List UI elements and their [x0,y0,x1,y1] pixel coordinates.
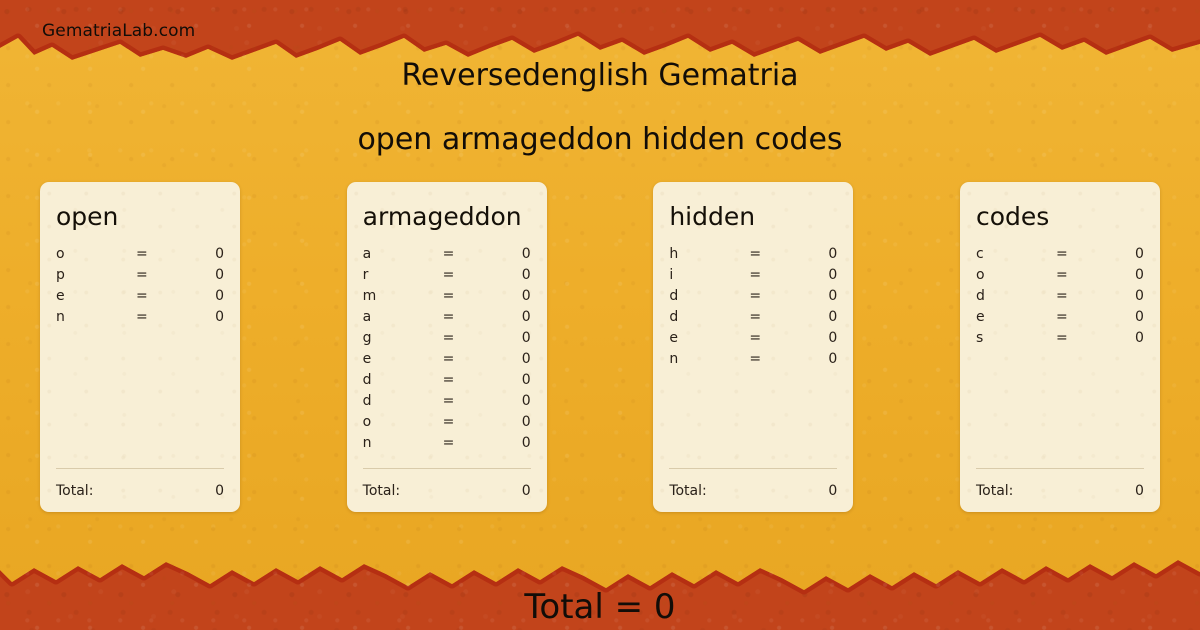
letter-value-rows: o = 0 p = 0 e = 0 n = 0 [56,246,224,330]
card-total: Total: 0 [56,468,224,499]
letter-value: 0 [495,414,531,430]
equals-sign: = [443,246,495,262]
letter: o [976,267,1056,283]
letter-row: d = 0 [669,288,837,309]
word-card-hidden: hidden h = 0 i = 0 d = 0 d [653,182,853,512]
word-card-title: hidden [669,204,837,229]
equals-sign: = [136,309,188,325]
letter-value: 0 [495,330,531,346]
letter: h [669,246,749,262]
card-divider [669,468,837,469]
word-card-list: open o = 0 p = 0 e = 0 n [40,182,1160,512]
equals-sign: = [1056,309,1108,325]
card-divider [363,468,531,469]
letter-value: 0 [1108,309,1144,325]
letter-value: 0 [495,351,531,367]
letter: d [669,309,749,325]
card-total-value: 0 [1135,483,1144,499]
letter: d [363,393,443,409]
letter-row: e = 0 [363,351,531,372]
word-card-title: codes [976,204,1144,229]
letter-value: 0 [801,309,837,325]
letter: n [363,435,443,451]
letter: e [363,351,443,367]
card-divider [56,468,224,469]
card-total: Total: 0 [976,468,1144,499]
letter-row: d = 0 [669,309,837,330]
site-logo[interactable]: GematriaLab.com [42,21,195,41]
letter: o [363,414,443,430]
letter-row: n = 0 [669,351,837,372]
letter-row: o = 0 [976,267,1144,288]
equals-sign: = [1056,288,1108,304]
letter-row: d = 0 [976,288,1144,309]
gematria-result-card: GematriaLab.com Reversedenglish Gematria… [0,0,1200,630]
letter-value: 0 [1108,246,1144,262]
letter: e [56,288,136,304]
equals-sign: = [443,414,495,430]
letter: c [976,246,1056,262]
letter-value: 0 [188,267,224,283]
equals-sign: = [443,372,495,388]
letter-row: d = 0 [363,372,531,393]
equals-sign: = [136,267,188,283]
equals-sign: = [749,351,801,367]
letter-value: 0 [495,393,531,409]
card-total-value: 0 [828,483,837,499]
letter-value: 0 [801,246,837,262]
letter-row: g = 0 [363,330,531,351]
letter-value: 0 [1108,330,1144,346]
word-card-open: open o = 0 p = 0 e = 0 n [40,182,240,512]
letter-value: 0 [1108,267,1144,283]
card-total-label: Total: [56,483,93,499]
letter-value: 0 [801,351,837,367]
letter-value: 0 [495,267,531,283]
equals-sign: = [749,246,801,262]
letter: g [363,330,443,346]
equals-sign: = [749,330,801,346]
word-card-codes: codes c = 0 o = 0 d = 0 e [960,182,1160,512]
letter-row: n = 0 [363,435,531,456]
page-subtitle: open armageddon hidden codes [0,122,1200,157]
letter-row: p = 0 [56,267,224,288]
letter-row: a = 0 [363,246,531,267]
letter-row: h = 0 [669,246,837,267]
letter-row: d = 0 [363,393,531,414]
letter-value: 0 [495,309,531,325]
letter: n [669,351,749,367]
letter-value: 0 [495,246,531,262]
equals-sign: = [136,246,188,262]
letter: d [363,372,443,388]
card-total-value: 0 [522,483,531,499]
letter: p [56,267,136,283]
letter-value-rows: c = 0 o = 0 d = 0 e = 0 [976,246,1144,351]
equals-sign: = [443,288,495,304]
letter-value: 0 [188,309,224,325]
letter-value: 0 [801,267,837,283]
letter: s [976,330,1056,346]
card-total: Total: 0 [363,468,531,499]
letter-row: e = 0 [56,288,224,309]
grand-total: Total = 0 [0,587,1200,627]
letter: d [976,288,1056,304]
card-total-label: Total: [363,483,400,499]
equals-sign: = [443,267,495,283]
letter-row: o = 0 [56,246,224,267]
letter-row: m = 0 [363,288,531,309]
letter-row: s = 0 [976,330,1144,351]
equals-sign: = [136,288,188,304]
equals-sign: = [443,309,495,325]
card-total: Total: 0 [669,468,837,499]
letter-row: r = 0 [363,267,531,288]
letter: d [669,288,749,304]
letter: m [363,288,443,304]
letter-value: 0 [495,288,531,304]
word-card-title: armageddon [363,204,531,229]
letter-row: c = 0 [976,246,1144,267]
letter-value: 0 [188,246,224,262]
letter: e [976,309,1056,325]
equals-sign: = [443,351,495,367]
letter-row: e = 0 [669,330,837,351]
equals-sign: = [443,393,495,409]
equals-sign: = [749,309,801,325]
letter-value: 0 [1108,288,1144,304]
equals-sign: = [749,267,801,283]
card-total-label: Total: [669,483,706,499]
card-total-label: Total: [976,483,1013,499]
letter-value: 0 [188,288,224,304]
equals-sign: = [749,288,801,304]
equals-sign: = [443,435,495,451]
letter: a [363,246,443,262]
equals-sign: = [1056,330,1108,346]
letter: n [56,309,136,325]
letter-value: 0 [801,330,837,346]
word-card-armageddon: armageddon a = 0 r = 0 m = 0 a [347,182,547,512]
letter-row: a = 0 [363,309,531,330]
letter: e [669,330,749,346]
letter-value: 0 [495,435,531,451]
letter: i [669,267,749,283]
card-divider [976,468,1144,469]
equals-sign: = [1056,246,1108,262]
card-total-value: 0 [215,483,224,499]
letter: o [56,246,136,262]
letter-row: i = 0 [669,267,837,288]
letter-row: n = 0 [56,309,224,330]
letter-value: 0 [495,372,531,388]
letter-value-rows: h = 0 i = 0 d = 0 d = 0 [669,246,837,372]
letter-value: 0 [801,288,837,304]
letter-row: o = 0 [363,414,531,435]
letter: r [363,267,443,283]
equals-sign: = [443,330,495,346]
word-card-title: open [56,204,224,229]
letter: a [363,309,443,325]
equals-sign: = [1056,267,1108,283]
letter-row: e = 0 [976,309,1144,330]
letter-value-rows: a = 0 r = 0 m = 0 a = 0 [363,246,531,456]
page-title: Reversedenglish Gematria [0,58,1200,93]
